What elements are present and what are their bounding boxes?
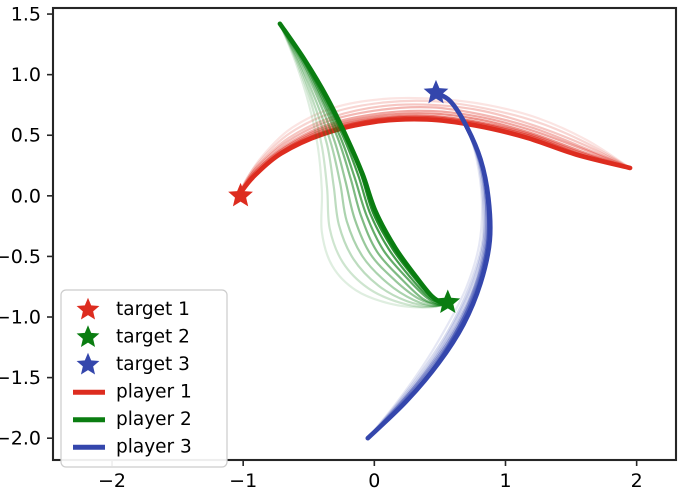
x-tick-label: 2 (631, 470, 643, 492)
y-tick-label: 1.0 (11, 64, 41, 86)
x-tick-label: 0 (368, 470, 380, 492)
trajectory-curve (368, 93, 488, 438)
target-star-marker (228, 183, 253, 207)
trajectory-curve (368, 93, 484, 438)
legend-entry-label: player 3 (116, 436, 192, 457)
figure-canvas: −2−1012−2.0−1.5−1.0−0.50.00.51.01.5 targ… (0, 0, 685, 496)
y-tick-label: −0.5 (0, 246, 41, 268)
trajectory-curve (368, 93, 489, 438)
y-tick-label: 1.5 (11, 4, 41, 26)
trajectory-bundle-player-2 (280, 24, 448, 308)
y-tick-label: 0.0 (11, 185, 41, 207)
trajectory-curve (368, 93, 487, 438)
trajectory-bundle-player-3 (368, 93, 491, 438)
legend-entry-label: player 1 (116, 381, 192, 402)
y-tick-label: −2.0 (0, 428, 41, 450)
trajectory-plot: −2−1012−2.0−1.5−1.0−0.50.00.51.01.5 targ… (0, 0, 685, 496)
trajectory-curve (240, 118, 630, 196)
trajectory-curve (368, 93, 487, 438)
trajectory-curve (368, 93, 485, 438)
y-tick-label: 0.5 (11, 125, 41, 147)
x-tick-label: −2 (98, 470, 126, 492)
y-tick-label: −1.0 (0, 307, 41, 329)
x-tick-label: 1 (499, 470, 511, 492)
legend-entry-label: target 2 (116, 326, 190, 347)
trajectory-curve (368, 93, 489, 438)
legend-entry-label: target 3 (116, 354, 190, 375)
x-tick-label: −1 (229, 470, 257, 492)
legend-entry-label: target 1 (116, 299, 190, 320)
trajectory-curve (280, 24, 448, 305)
trajectory-bundle-player-1 (240, 98, 630, 196)
trajectory-curve (368, 93, 482, 438)
y-tick-label: −1.5 (0, 367, 41, 389)
plot-legend: target 1target 2target 3player 1player 2… (61, 290, 227, 467)
trajectory-curve (368, 93, 488, 438)
legend-entry-label: player 2 (116, 409, 192, 430)
